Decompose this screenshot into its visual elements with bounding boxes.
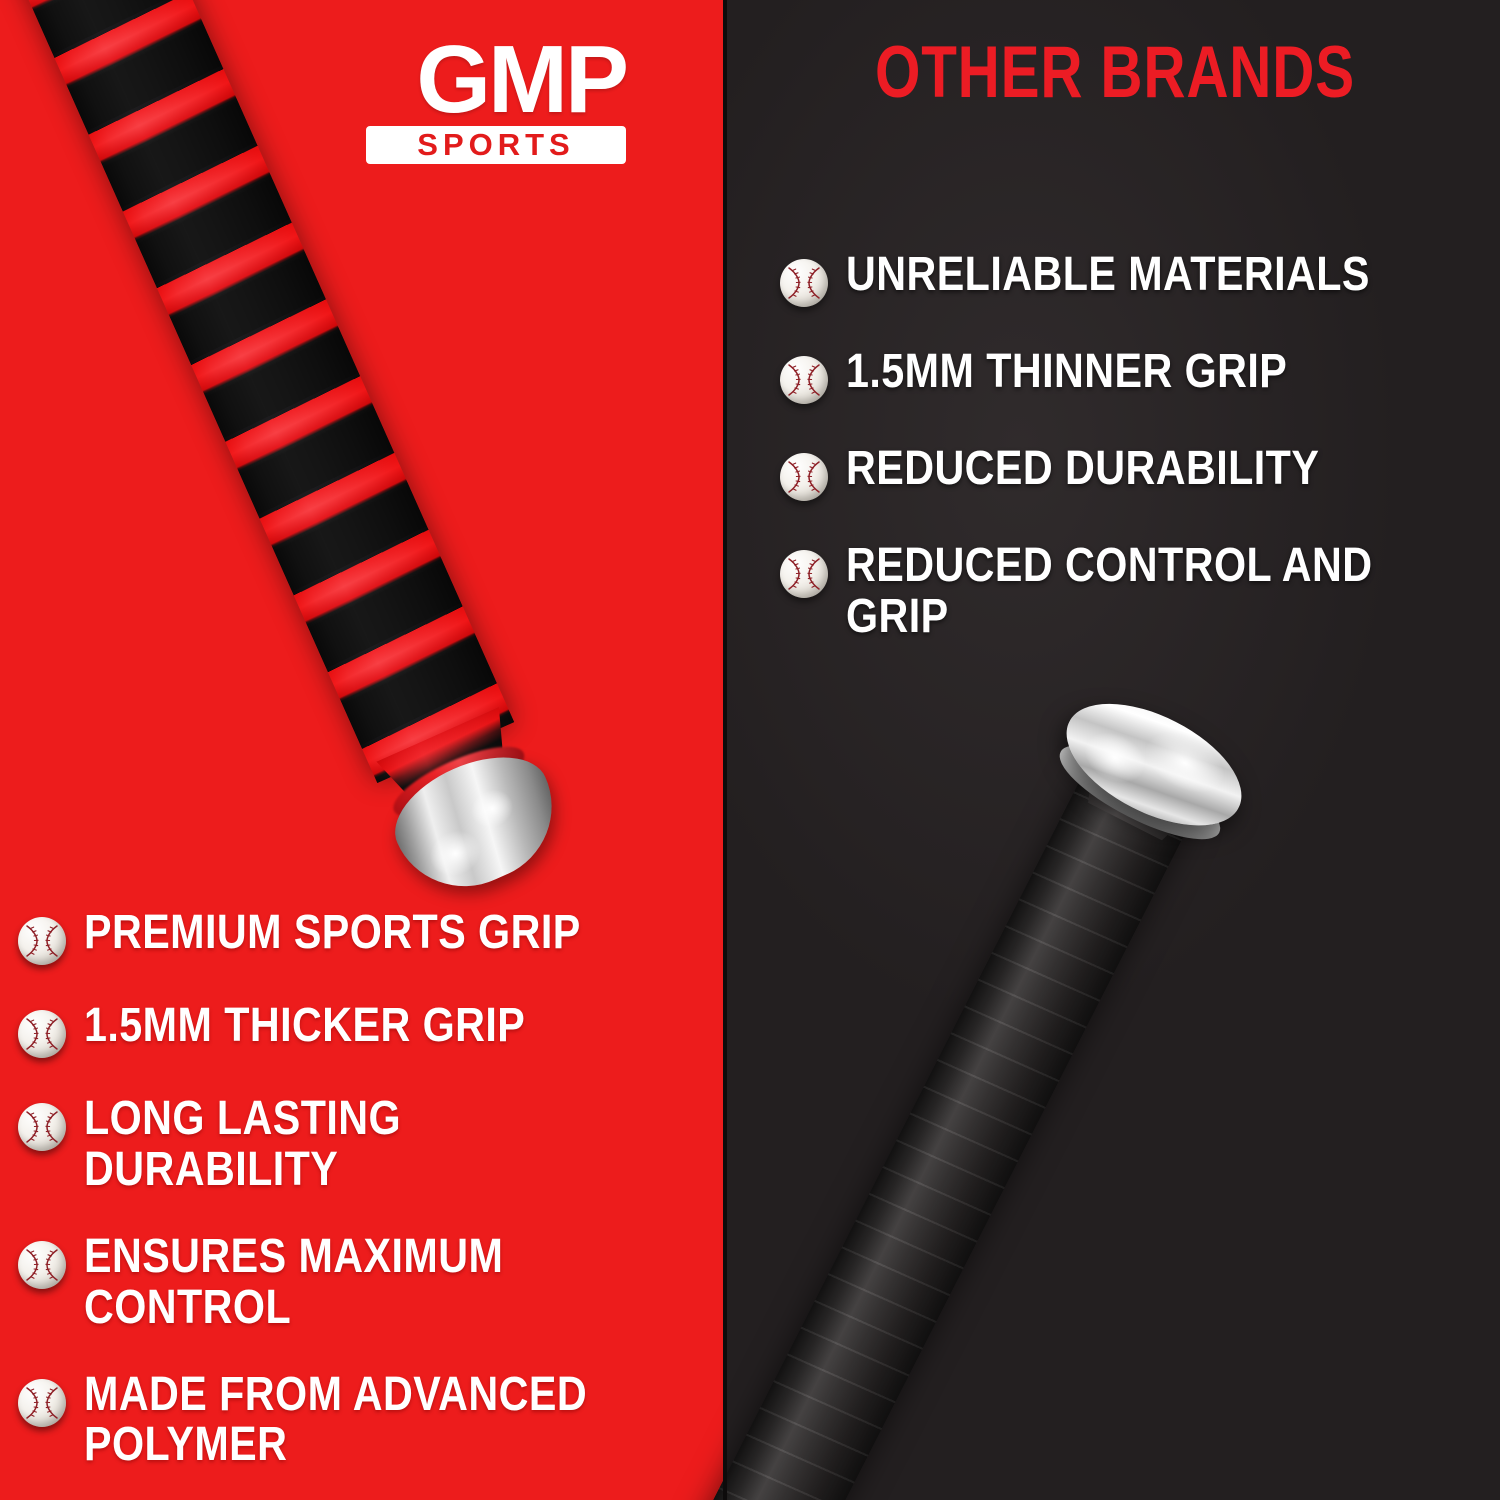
gmp-sports-panel: GMP SPORTS PREMIUM SPORT	[0, 0, 725, 1500]
baseball-icon	[18, 917, 66, 965]
logo-wordmark: GMP	[196, 36, 626, 124]
baseball-icon	[780, 259, 828, 307]
other-brands-feature-list: UNRELIABLE MATERIALS 1.5MM THINNER GRIP	[780, 250, 1490, 683]
list-item-label: ENSURES MAXIMUM CONTROL	[84, 1232, 629, 1334]
list-item: UNRELIABLE MATERIALS	[780, 250, 1490, 307]
gmp-feature-list: PREMIUM SPORTS GRIP 1.5MM THICKER GRIP	[18, 908, 718, 1500]
comparison-infographic: GMP SPORTS PREMIUM SPORT	[0, 0, 1500, 1500]
list-item-label: 1.5MM THINNER GRIP	[846, 347, 1287, 398]
gmp-sports-logo: GMP SPORTS	[196, 36, 626, 164]
panel-divider	[723, 0, 727, 1500]
list-item-label: 1.5MM THICKER GRIP	[84, 1001, 525, 1052]
baseball-icon	[18, 1241, 66, 1289]
list-item: MADE FROM ADVANCED POLYMER	[18, 1370, 718, 1472]
list-item: 1.5MM THINNER GRIP	[780, 347, 1490, 404]
page-title: OTHER BRANDS	[819, 36, 1411, 109]
list-item: 1.5MM THICKER GRIP	[18, 1001, 718, 1058]
list-item-label: UNRELIABLE MATERIALS	[846, 250, 1370, 301]
baseball-icon	[780, 453, 828, 501]
list-item-label: REDUCED DURABILITY	[846, 444, 1319, 495]
list-item: PREMIUM SPORTS GRIP	[18, 908, 718, 965]
baseball-icon	[18, 1010, 66, 1058]
list-item: ENSURES MAXIMUM CONTROL	[18, 1232, 718, 1334]
list-item: LONG LASTING DURABILITY	[18, 1094, 718, 1196]
baseball-icon	[18, 1103, 66, 1151]
list-item: REDUCED DURABILITY	[780, 444, 1490, 501]
list-item-label: REDUCED CONTROL AND GRIP	[846, 541, 1400, 643]
list-item-label: LONG LASTING DURABILITY	[84, 1094, 629, 1196]
baseball-icon	[780, 356, 828, 404]
list-item-label: MADE FROM ADVANCED POLYMER	[84, 1370, 587, 1472]
baseball-icon	[780, 550, 828, 598]
baseball-icon	[18, 1379, 66, 1427]
list-item-label: PREMIUM SPORTS GRIP	[84, 908, 581, 959]
list-item: REDUCED CONTROL AND GRIP	[780, 541, 1490, 643]
logo-sports-text: SPORTS	[376, 129, 616, 160]
